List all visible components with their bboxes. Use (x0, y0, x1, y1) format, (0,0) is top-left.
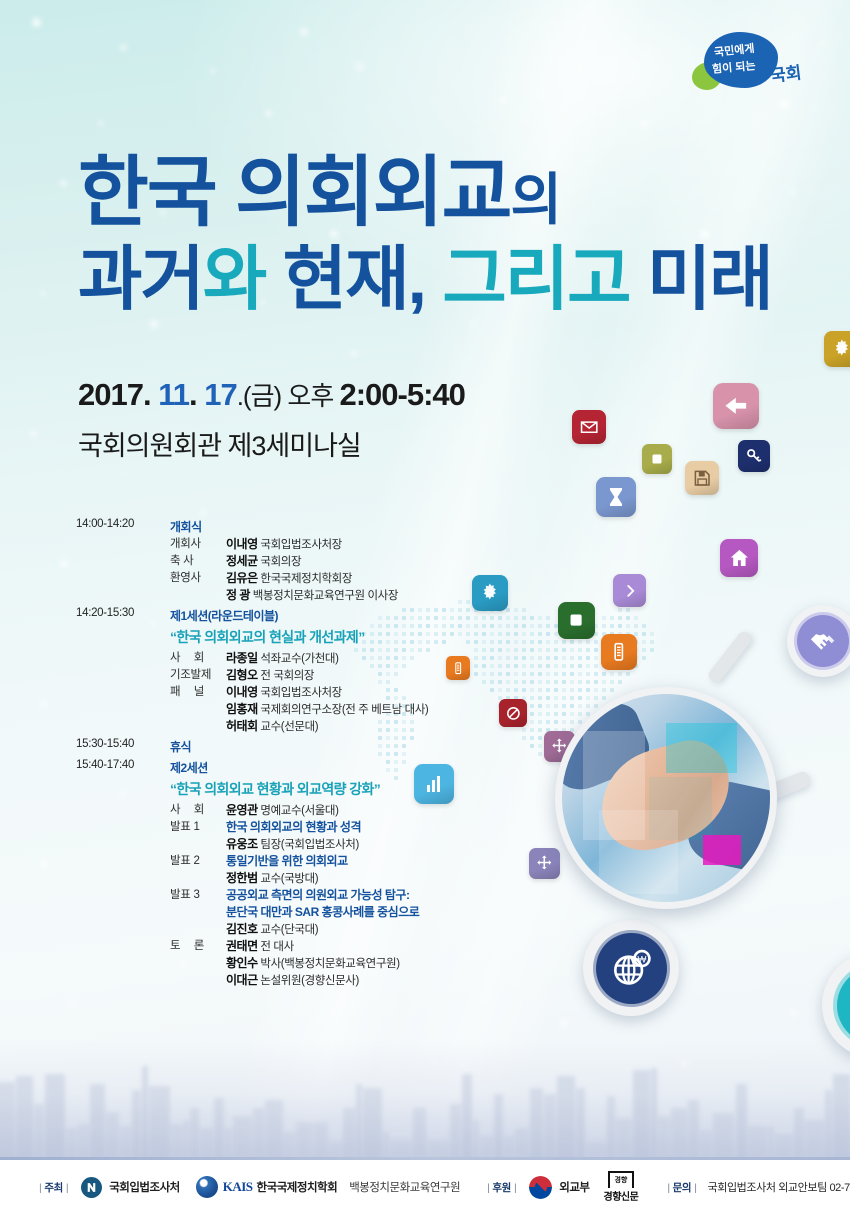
program-person-affiliation: 박사(백봉정치문화교육연구원) (258, 958, 400, 970)
program-person-name: 권태면 (226, 939, 258, 953)
program-row-role: 기조발제 (170, 666, 226, 682)
title-part-wa: 와 (203, 240, 265, 318)
key-icon (738, 440, 770, 472)
program-slot-time: 14:20-15:30 (76, 607, 162, 619)
program-row: 개회사이내영 국회입법조사처장 (170, 535, 496, 552)
program-row: 김진호 교수(단국대) (170, 920, 496, 937)
program-row: 유웅조 팀장(국회입법조사처) (170, 835, 496, 852)
program-slot: 15:40-17:40제2세션“한국 의회외교 현황과 외교역량 강화”사 회윤… (76, 759, 496, 988)
hourglass-icon (596, 477, 636, 517)
program-slot-header: 14:00-14:20개회식 (76, 518, 496, 535)
back-arrow-icon (713, 383, 759, 429)
support-2-label: 경향신문 (604, 1192, 639, 1203)
program-person-affiliation: 팀장(국회입법조사처) (258, 839, 359, 851)
program-person-affiliation: 국회의장 (258, 556, 302, 568)
program-person-affiliation: 교수(단국대) (258, 924, 319, 936)
program-slot: 14:00-14:20개회식개회사이내영 국회입법조사처장축 사정세균 국회의장… (76, 518, 496, 603)
title-part-and: 그리고 (442, 240, 629, 318)
program-row: 황인수 박사(백봉정치문화교육연구원) (170, 954, 496, 971)
program-row: 축 사정세균 국회의장 (170, 552, 496, 569)
program-slot-title: 휴식 (170, 738, 191, 755)
program-row: 기조발제김형오 전 국회의장 (170, 666, 496, 683)
program-person: 이내영 국회입법조사처장 (226, 535, 342, 552)
program-row: 발표 3공공외교 측면의 의원외교 가능성 탐구: (170, 886, 496, 903)
program-row-list: 개회사이내영 국회입법조사처장축 사정세균 국회의장환영사김유은 한국국제정치학… (170, 535, 496, 603)
program-slot-time: 15:30-15:40 (76, 738, 162, 750)
program-slot-title: 제1세션(라운드테이블) (170, 607, 278, 624)
program-person-name: 이대근 (226, 973, 258, 987)
program-person-affiliation: 국회입법조사처장 (258, 539, 342, 551)
program-person: 정한범 교수(국방대) (226, 869, 318, 886)
program-person-name: 허태회 (226, 719, 258, 733)
poster-title: 한국 의회외교의 과거와 현재, 그리고 미래 (78, 155, 778, 314)
program-schedule: 14:00-14:20개회식개회사이내영 국회입법조사처장축 사정세균 국회의장… (76, 518, 496, 992)
program-row-role: 축 사 (170, 552, 226, 568)
event-time: 2:00-5:40 (339, 377, 464, 412)
program-person-name: 임홍재 (226, 702, 258, 716)
event-datetime: 2017. 11. 17.(금) 오후 2:00-5:40 (78, 376, 465, 413)
program-slot: 14:20-15:30제1세션(라운드테이블)“한국 의회외교의 현실과 개선과… (76, 607, 496, 734)
event-venue: 국회의원회관 제3세미나실 (78, 424, 361, 463)
contact-text: 국회입법조사처 외교안보팀 02-788-4550 (708, 1179, 850, 1195)
program-row: 발표 2통일기반을 위한 의회외교 (170, 852, 496, 869)
svg-text:₩: ₩ (637, 954, 646, 965)
program-session-subject: “한국 의회외교 현황과 외교역량 강화” (170, 779, 496, 799)
event-day: 17 (204, 377, 236, 412)
program-row-role: 토 론 (170, 937, 226, 953)
program-row: 임홍재 국제회의연구소장(전 주 베트남 대사) (170, 700, 496, 717)
title-line-1-main: 한국 의회외교 (78, 150, 510, 236)
title-part-present: 현재, (265, 240, 442, 318)
program-person: 권태면 전 대사 (226, 937, 294, 954)
photo-overlay-d (599, 810, 678, 893)
kais-brand-label: KAIS (223, 1179, 253, 1195)
program-person: 이대근 논설위원(경향신문사) (226, 971, 359, 988)
program-session-subject: “한국 의회외교의 현실과 개선과제” (170, 627, 496, 647)
program-row: 토 론권태면 전 대사 (170, 937, 496, 954)
program-slot-header: 14:20-15:30제1세션(라운드테이블) (76, 607, 496, 624)
program-person-name: 정세균 (226, 554, 258, 568)
stop-square-dark-icon (558, 602, 595, 639)
kyunghyang-box-label: 경향 (608, 1171, 634, 1188)
program-row: 패 널이내영 국회입법조사처장 (170, 683, 496, 700)
title-line-2: 과거와 현재, 그리고 미래 (78, 244, 778, 314)
program-person-name: 윤영관 (226, 803, 258, 817)
program-row: 사 회윤영관 명예교수(서울대) (170, 801, 496, 818)
battery-icon (601, 634, 637, 670)
host-3-label: 백봉정치문화교육연구원 (349, 1179, 460, 1195)
program-person-affiliation: 명예교수(서울대) (258, 805, 339, 817)
program-person-affiliation: 전 대사 (258, 941, 294, 953)
program-row-role: 환영사 (170, 569, 226, 585)
contact-tag: |문의| (664, 1180, 699, 1195)
program-person-affiliation: 논설위원(경향신문사) (258, 975, 359, 987)
event-dot: . (189, 377, 204, 412)
handshake-photo (562, 694, 770, 902)
globe-currency-circle: ₩ (583, 920, 679, 1016)
program-slot-title: 제2세션 (170, 759, 208, 776)
program-slot-title: 개회식 (170, 518, 202, 535)
program-paper-title: 한국 의회외교의 현황과 성격 (226, 818, 361, 835)
program-row: 이대근 논설위원(경향신문사) (170, 971, 496, 988)
event-year: 2017. (78, 377, 158, 412)
host-2-label: 한국국제정치학회 (257, 1179, 338, 1195)
program-row-role: 사 회 (170, 801, 226, 817)
program-row-role: 패 널 (170, 683, 226, 699)
footer-contact: |문의| 국회입법조사처 외교안보팀 02-788-4550 (664, 1179, 850, 1195)
program-person: 김형오 전 국회의장 (226, 666, 314, 683)
program-person-affiliation: 전 국회의장 (258, 670, 315, 682)
program-person-name: 김진호 (226, 922, 258, 936)
title-part-past: 과거 (78, 240, 203, 318)
poster-footer: |주최| 국회입법조사처 KAIS 한국국제정치학회 백봉정치문화교육연구원 |… (0, 1160, 850, 1214)
program-person-name: 이내영 (226, 537, 258, 551)
logo-line-3: 국회 (769, 58, 803, 87)
program-person-affiliation: 한국국제정치학회장 (258, 573, 352, 585)
host-1-label: 국회입법조사처 (109, 1179, 180, 1195)
mofa-logo-icon (529, 1176, 552, 1199)
program-person: 정 광 백봉정치문화교육연구원 이사장 (226, 586, 398, 603)
event-month: 11 (158, 377, 189, 412)
program-person-name: 김형오 (226, 668, 258, 682)
program-row-role: 개회사 (170, 535, 226, 551)
block-icon (499, 699, 527, 727)
program-person-affiliation: 석좌교수(가천대) (258, 653, 339, 665)
program-person-name: 황인수 (226, 956, 258, 970)
program-person: 라종일 석좌교수(가천대) (226, 649, 339, 666)
footer-supporters: |후원| 외교부 경향 경향신문 (484, 1171, 638, 1204)
program-paper-title: 분단국 대만과 SAR 홍콩사례를 중심으로 (226, 903, 419, 920)
program-row: 발표 1한국 의회외교의 현황과 성격 (170, 818, 496, 835)
host-tag: |주최| (36, 1180, 71, 1195)
program-paper-title: 통일기반을 위한 의회외교 (226, 852, 348, 869)
kyunghyang-logo-icon: 경향 경향신문 (604, 1171, 639, 1204)
nars-logo-icon (81, 1177, 102, 1198)
poster-root: 국민에게 힘이 되는 국회 ₩ 한국 의회외교의 과거와 현재, 그리고 미래 … (0, 0, 850, 1214)
program-row-role: 발표 2 (170, 852, 226, 868)
program-person-affiliation: 국회입법조사처장 (258, 687, 342, 699)
program-row: 분단국 대만과 SAR 홍콩사례를 중심으로 (170, 903, 496, 920)
title-line-1-suffix: 의 (510, 168, 560, 231)
program-row-role: 발표 1 (170, 818, 226, 834)
city-skyline (0, 1040, 850, 1160)
globe-currency-circle-inner: ₩ (593, 930, 670, 1007)
program-person: 유웅조 팀장(국회입법조사처) (226, 835, 359, 852)
program-person: 황인수 박사(백봉정치문화교육연구원) (226, 954, 400, 971)
event-dayofweek: .(금) (237, 381, 281, 411)
program-person: 윤영관 명예교수(서울대) (226, 801, 339, 818)
program-row: 정한범 교수(국방대) (170, 869, 496, 886)
program-slot-time: 15:40-17:40 (76, 759, 162, 771)
program-slot-header: 15:40-17:40제2세션 (76, 759, 496, 776)
program-row: 사 회라종일 석좌교수(가천대) (170, 649, 496, 666)
program-slot: 15:30-15:40휴식 (76, 738, 496, 755)
program-person-name: 이내영 (226, 685, 258, 699)
program-slot-time: 14:00-14:20 (76, 518, 162, 530)
handshake-photo-circle (555, 687, 777, 909)
program-slot-header: 15:30-15:40휴식 (76, 738, 496, 755)
program-person-name: 라종일 (226, 651, 258, 665)
program-person: 김진호 교수(단국대) (226, 920, 318, 937)
program-row: 정 광 백봉정치문화교육연구원 이사장 (170, 586, 496, 603)
home-icon (720, 539, 758, 577)
program-row: 환영사김유은 한국국제정치학회장 (170, 569, 496, 586)
photo-overlay-b (666, 723, 737, 773)
kais-logo-icon (196, 1176, 218, 1198)
footer-hosts: |주최| 국회입법조사처 KAIS 한국국제정치학회 백봉정치문화교육연구원 (36, 1176, 460, 1198)
gear-gold-icon (824, 331, 850, 367)
program-person-affiliation: 교수(국방대) (258, 873, 319, 885)
program-person: 임홍재 국제회의연구소장(전 주 베트남 대사) (226, 700, 428, 717)
program-row-list: 사 회라종일 석좌교수(가천대)기조발제김형오 전 국회의장패 널이내영 국회입… (170, 649, 496, 734)
title-part-future: 미래 (630, 240, 772, 318)
program-row-role: 발표 3 (170, 886, 226, 902)
program-person-name: 정한범 (226, 871, 258, 885)
stop-square-icon (642, 444, 672, 474)
program-row-list: 사 회윤영관 명예교수(서울대)발표 1한국 의회외교의 현황과 성격유웅조 팀… (170, 801, 496, 988)
program-paper-title: 공공외교 측면의 의원외교 가능성 탐구: (226, 886, 409, 903)
photo-overlay-magenta (703, 835, 740, 864)
program-person: 정세균 국회의장 (226, 552, 301, 569)
handshake-circle (787, 605, 850, 677)
save-icon (685, 461, 719, 495)
program-person-affiliation: 백봉정치문화교육연구원 이사장 (250, 590, 398, 602)
program-person: 김유은 한국국제정치학회장 (226, 569, 352, 586)
puzzle-circle-inner (833, 963, 850, 1048)
program-person-name: 정 광 (226, 588, 250, 602)
event-ampm: 오후 (281, 381, 339, 411)
program-person: 이내영 국회입법조사처장 (226, 683, 342, 700)
program-person-affiliation: 국제회의연구소장(전 주 베트남 대사) (258, 704, 429, 716)
next-chevron-icon (613, 574, 646, 607)
program-person-name: 유웅조 (226, 837, 258, 851)
move-icon-2 (529, 848, 560, 879)
support-tag: |후원| (484, 1180, 519, 1195)
mail-icon (572, 410, 606, 444)
assembly-logo: 국민에게 힘이 되는 국회 (690, 32, 810, 94)
program-row: 허태회 교수(선문대) (170, 717, 496, 734)
title-line-1: 한국 의회외교의 (78, 155, 778, 232)
handshake-circle-inner (794, 612, 850, 670)
program-person: 허태회 교수(선문대) (226, 717, 318, 734)
support-1-label: 외교부 (559, 1179, 589, 1195)
program-person-affiliation: 교수(선문대) (258, 721, 319, 733)
program-row-role: 사 회 (170, 649, 226, 665)
program-person-name: 김유은 (226, 571, 258, 585)
